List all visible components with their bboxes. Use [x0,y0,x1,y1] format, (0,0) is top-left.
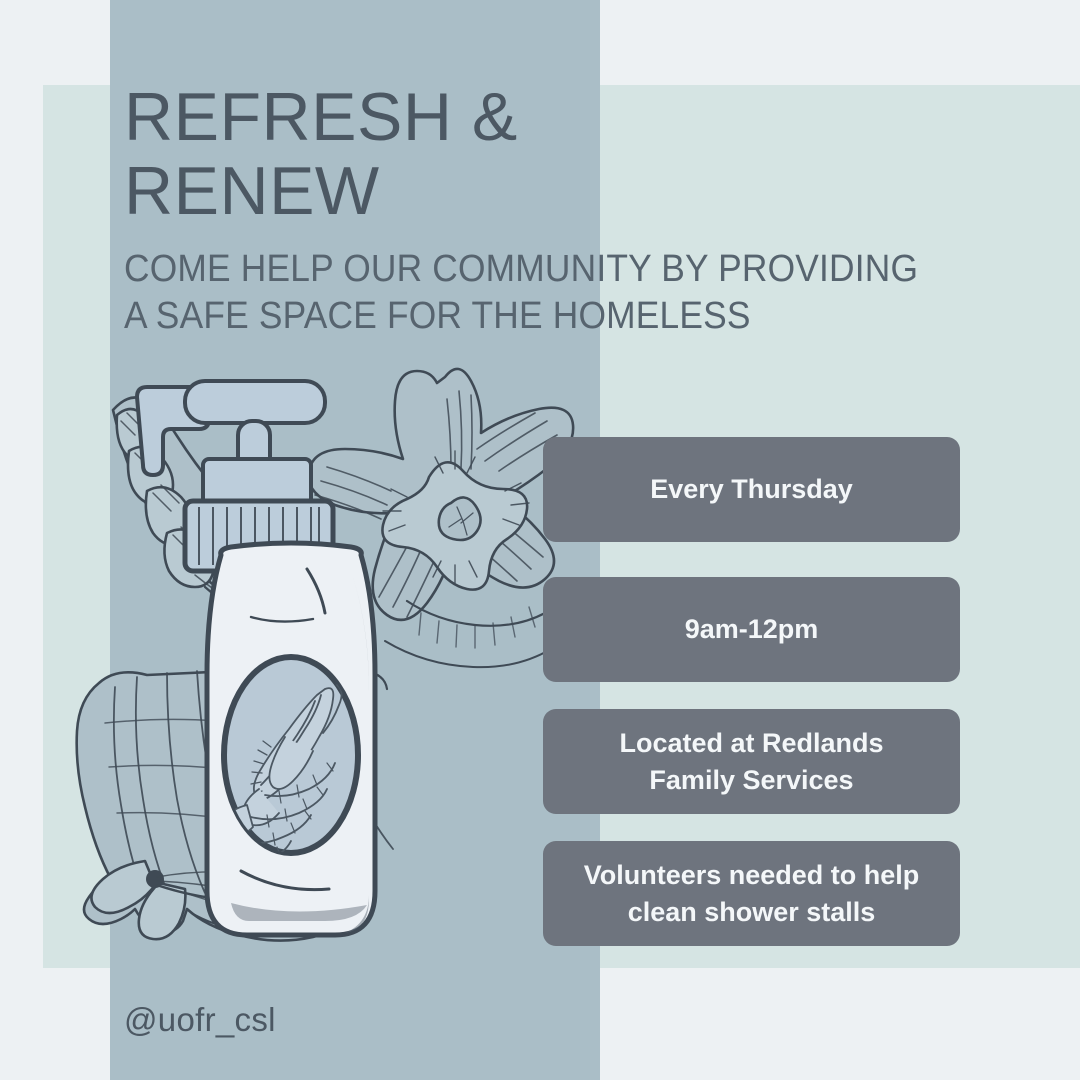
info-box-call-to-action[interactable]: Volunteers needed to help clean shower s… [543,841,960,946]
info-box-schedule-day[interactable]: Every Thursday [543,437,960,542]
info-box-stack: Every Thursday 9am-12pm Located at Redla… [543,437,960,946]
info-box-location[interactable]: Located at Redlands Family Services [543,709,960,814]
info-box-schedule-time[interactable]: 9am-12pm [543,577,960,682]
social-handle[interactable]: @uofr_csl [124,1000,276,1040]
poster-canvas: REFRESH & RENEW COME HELP OUR COMMUNITY … [0,0,1080,1080]
page-subtitle: COME HELP OUR COMMUNITY BY PROVIDING A S… [124,246,961,340]
page-title: REFRESH & RENEW [124,80,1024,228]
headline-block: REFRESH & RENEW COME HELP OUR COMMUNITY … [124,80,1024,340]
